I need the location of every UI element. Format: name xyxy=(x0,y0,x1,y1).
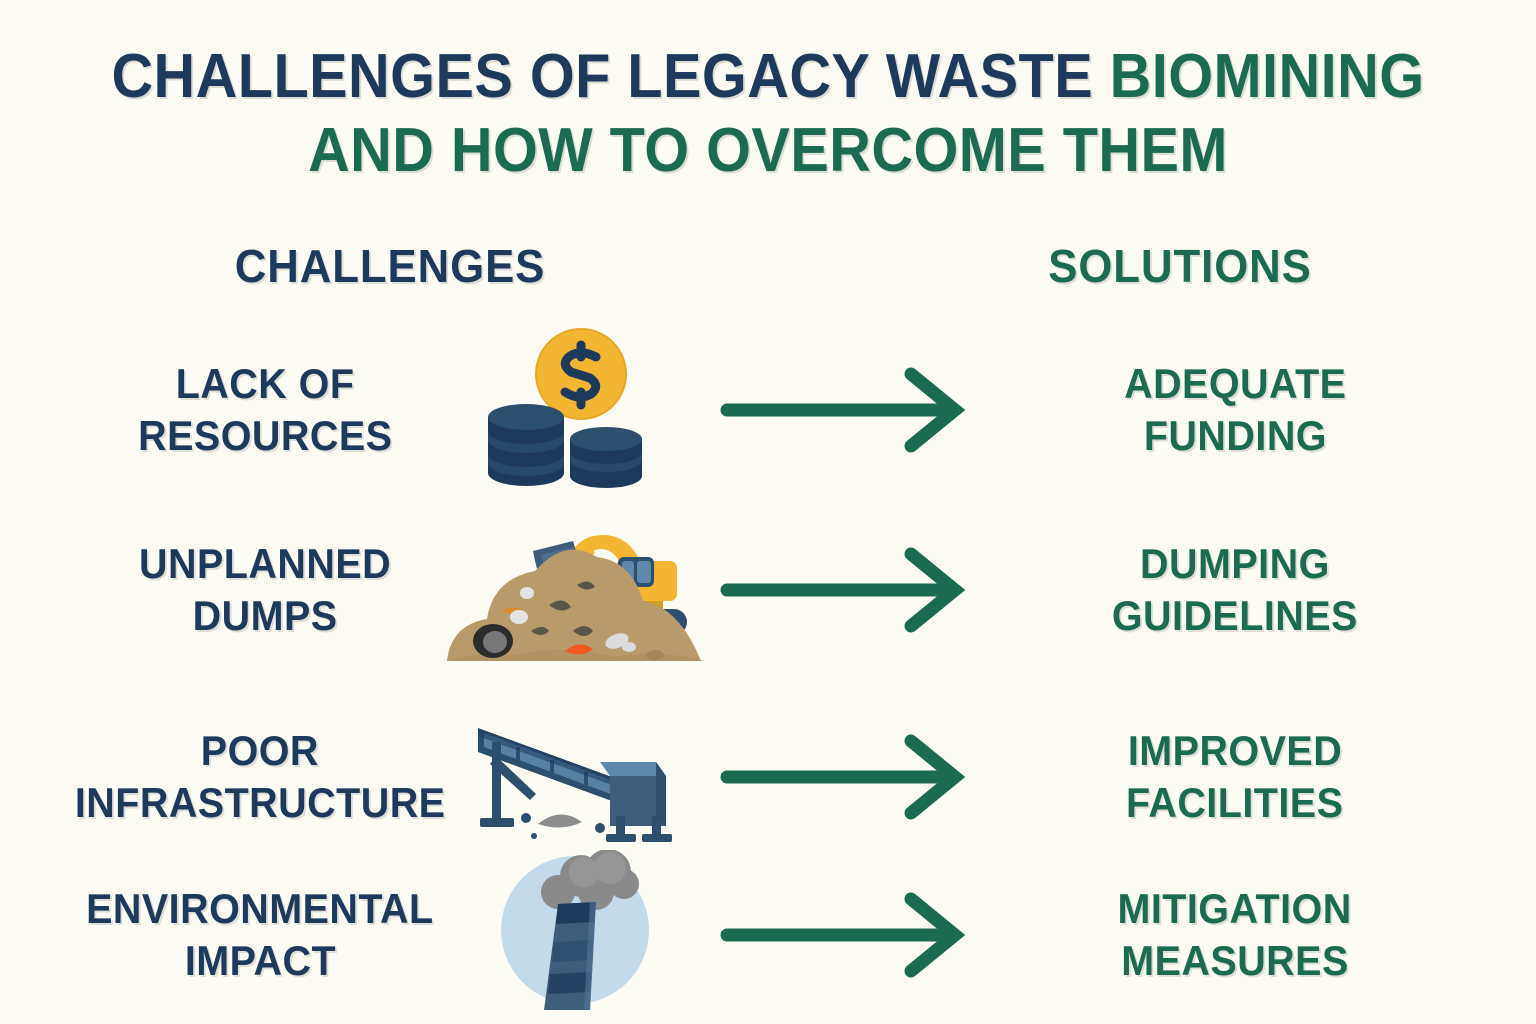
challenge-label-0: LACK OF RESOURCES xyxy=(30,325,500,495)
challenge-line1-2: POOR xyxy=(201,725,319,777)
solution-line1-2: IMPROVED xyxy=(1128,725,1342,777)
challenge-label-1: UNPLANNED DUMPS xyxy=(30,505,500,675)
arrow-right-icon xyxy=(719,544,981,636)
arrow-right-icon xyxy=(719,731,981,823)
excavator-waste-pile-icon xyxy=(441,505,709,675)
title-line-1-navy: CHALLENGES OF LEGACY WASTE xyxy=(111,42,1109,111)
icon-slot-3 xyxy=(440,850,710,1020)
challenge-line2-3: IMPACT xyxy=(184,935,335,987)
challenge-line2-1: DUMPS xyxy=(193,590,338,642)
solution-label-3: MITIGATION MEASURES xyxy=(1025,850,1445,1020)
title-line-1-green: BIOMINING xyxy=(1110,42,1425,111)
solution-label-1: DUMPING GUIDELINES xyxy=(1025,505,1445,675)
title-line-1: CHALLENGES OF LEGACY WASTE BIOMINING xyxy=(54,40,1482,114)
arrow-right-icon xyxy=(719,889,981,981)
challenge-label-3: ENVIRONMENTAL IMPACT xyxy=(10,850,510,1020)
solution-label-2: IMPROVED FACILITIES xyxy=(1025,692,1445,862)
row-unplanned-dumps: UNPLANNED DUMPS xyxy=(0,505,1536,675)
title-line-2: AND HOW TO OVERCOME THEM xyxy=(54,114,1482,188)
money-stack-icon xyxy=(468,326,683,494)
challenge-label-2: POOR INFRASTRUCTURE xyxy=(10,692,510,862)
conveyor-belt-icon xyxy=(460,712,690,842)
challenge-line2-0: RESOURCES xyxy=(138,410,392,462)
solution-line2-2: FACILITIES xyxy=(1126,777,1343,829)
solution-line1-1: DUMPING xyxy=(1140,538,1330,590)
arrow-slot-0 xyxy=(700,325,1000,495)
column-header-challenges: CHALLENGES xyxy=(134,238,647,294)
solution-line1-3: MITIGATION xyxy=(1118,883,1352,935)
solution-line2-0: FUNDING xyxy=(1143,410,1326,462)
icon-slot-2 xyxy=(440,692,710,862)
solution-label-0: ADEQUATE FUNDING xyxy=(1025,325,1445,495)
arrow-slot-2 xyxy=(700,692,1000,862)
solution-line1-0: ADEQUATE xyxy=(1124,358,1346,410)
icon-slot-1 xyxy=(440,505,710,675)
challenge-line2-2: INFRASTRUCTURE xyxy=(75,777,446,829)
smokestack-pollution-icon xyxy=(486,850,664,1020)
arrow-slot-3 xyxy=(700,850,1000,1020)
solution-line2-1: GUIDELINES xyxy=(1112,590,1358,642)
row-poor-infrastructure: POOR INFRASTRUCTURE xyxy=(0,692,1536,862)
challenge-line1-0: LACK OF xyxy=(176,358,355,410)
arrow-slot-1 xyxy=(700,505,1000,675)
arrow-right-icon xyxy=(719,364,981,456)
row-lack-of-resources: LACK OF RESOURCES xyxy=(0,325,1536,495)
solution-line2-3: MEASURES xyxy=(1121,935,1349,987)
icon-slot-0 xyxy=(440,325,710,495)
page-title: CHALLENGES OF LEGACY WASTE BIOMINING AND… xyxy=(0,40,1536,188)
column-headers: CHALLENGES SOLUTIONS xyxy=(0,238,1536,300)
column-header-solutions: SOLUTIONS xyxy=(924,238,1437,294)
challenge-line1-1: UNPLANNED xyxy=(139,538,391,590)
row-environmental-impact: ENVIRONMENTAL IMPACT xyxy=(0,850,1536,1020)
challenge-line1-3: ENVIRONMENTAL xyxy=(86,883,434,935)
